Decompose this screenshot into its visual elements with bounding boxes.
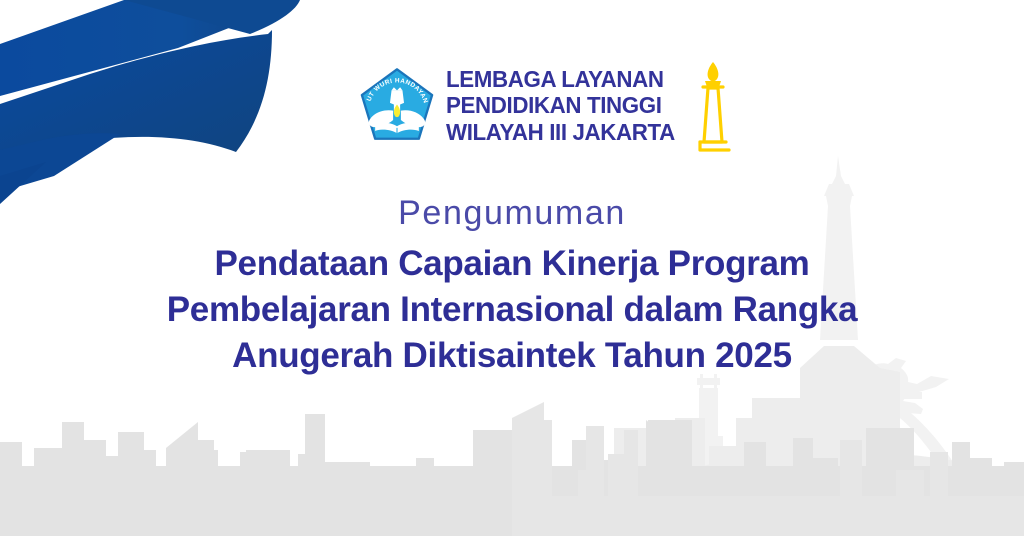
logo-line-1: LEMBAGA LAYANAN — [446, 66, 675, 93]
headline-line-1: Pendataan Capaian Kinerja Program — [0, 241, 1024, 287]
logo-line-3: WILAYAH III JAKARTA — [446, 119, 675, 146]
headline-line-3: Anugerah Diktisaintek Tahun 2025 — [0, 333, 1024, 379]
headline-line-2: Pembelajaran Internasional dalam Rangka — [0, 287, 1024, 333]
announcement-eyebrow: Pengumuman — [0, 192, 1024, 235]
headline-block: Pengumuman Pendataan Capaian Kinerja Pro… — [0, 192, 1024, 379]
logo-line-2: PENDIDIKAN TINGGI — [446, 93, 675, 120]
tut-wuri-handayani-emblem: TUT WURI HANDAYANI — [358, 66, 436, 146]
institution-logo-lockup: TUT WURI HANDAYANI LEMBAGA LAYANAN PENDI… — [358, 58, 733, 154]
logo-wordmark: LEMBAGA LAYANAN PENDIDIKAN TINGGI WILAYA… — [446, 66, 687, 146]
announcement-banner: TUT WURI HANDAYANI LEMBAGA LAYANAN PENDI… — [0, 0, 1024, 536]
monas-monument-icon — [693, 58, 733, 154]
